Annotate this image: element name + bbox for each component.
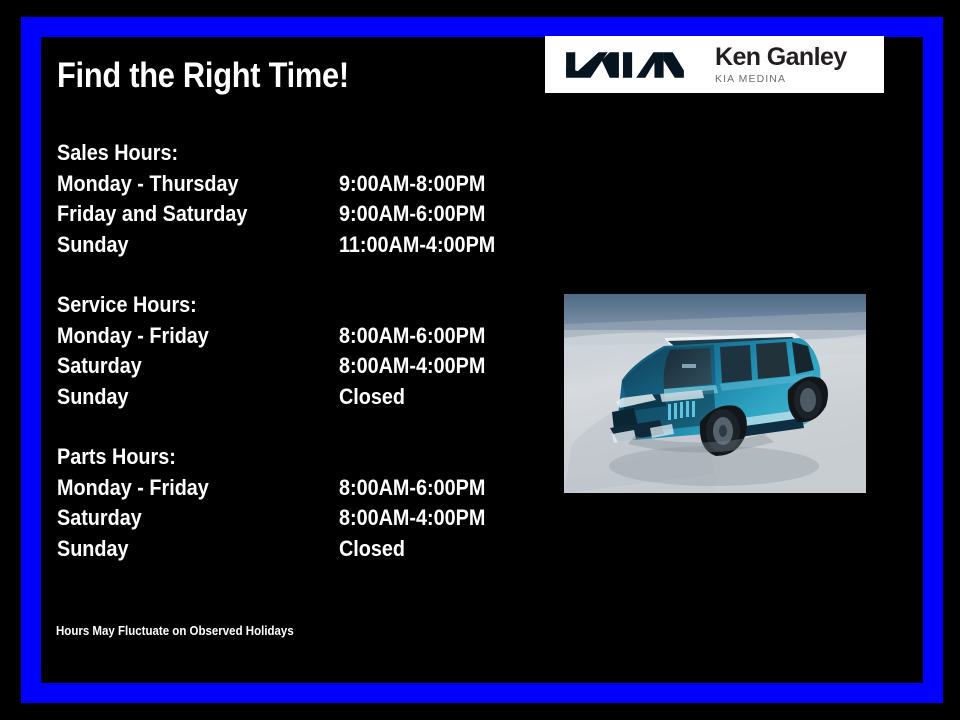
- hours-row: Sunday11:00AM-4:00PM: [57, 230, 537, 261]
- hours-section: Parts Hours:Monday - Friday8:00AM-6:00PM…: [57, 442, 537, 564]
- page-title: Find the Right Time!: [57, 58, 349, 95]
- dealer-logo-card: Ken Ganley KIA MEDINA: [545, 36, 884, 93]
- hours-row-time: Closed: [339, 382, 405, 413]
- hours-row: Monday - Friday8:00AM-6:00PM: [57, 321, 537, 352]
- hours-section-heading: Sales Hours:: [57, 138, 489, 169]
- hours-row: SundayClosed: [57, 534, 537, 565]
- dealer-name: Ken Ganley: [715, 45, 847, 70]
- hours-row-time: 8:00AM-6:00PM: [339, 321, 485, 352]
- dealer-subtitle: KIA MEDINA: [715, 74, 847, 85]
- kia-ev9-suv-photo: [564, 294, 866, 493]
- hours-row-time: 8:00AM-4:00PM: [339, 351, 485, 382]
- hours-section-heading: Parts Hours:: [57, 442, 489, 473]
- hours-row: Saturday8:00AM-4:00PM: [57, 503, 537, 534]
- hours-row-time: 11:00AM-4:00PM: [339, 230, 495, 261]
- hours-row: Monday - Thursday9:00AM-8:00PM: [57, 169, 537, 200]
- hours-row-time: 8:00AM-4:00PM: [339, 503, 485, 534]
- hours-row-day: Saturday: [57, 351, 311, 382]
- slide-canvas: Find the Right Time! Sales Hours:Monday …: [0, 0, 960, 720]
- hours-row-day: Sunday: [57, 382, 311, 413]
- kia-logo-icon: [559, 48, 691, 82]
- hours-row-time: Closed: [339, 534, 405, 565]
- hours-row-day: Friday and Saturday: [57, 199, 311, 230]
- hours-row: Saturday8:00AM-4:00PM: [57, 351, 537, 382]
- hours-row-day: Sunday: [57, 230, 311, 261]
- hours-block: Sales Hours:Monday - Thursday9:00AM-8:00…: [57, 138, 537, 564]
- hours-section: Service Hours:Monday - Friday8:00AM-6:00…: [57, 290, 537, 412]
- hours-row-time: 9:00AM-8:00PM: [339, 169, 485, 200]
- hours-section-heading: Service Hours:: [57, 290, 489, 321]
- hours-row-time: 9:00AM-6:00PM: [339, 199, 485, 230]
- hours-row: Friday and Saturday9:00AM-6:00PM: [57, 199, 537, 230]
- hours-row-day: Monday - Friday: [57, 321, 311, 352]
- hours-row-day: Sunday: [57, 534, 311, 565]
- hours-row: Monday - Friday8:00AM-6:00PM: [57, 473, 537, 504]
- dealer-logo-text: Ken Ganley KIA MEDINA: [715, 45, 847, 85]
- hours-row-time: 8:00AM-6:00PM: [339, 473, 485, 504]
- hours-row: SundayClosed: [57, 382, 537, 413]
- hours-row-day: Saturday: [57, 503, 311, 534]
- holiday-disclaimer: Hours May Fluctuate on Observed Holidays: [56, 624, 294, 638]
- hours-section: Sales Hours:Monday - Thursday9:00AM-8:00…: [57, 138, 537, 260]
- hours-row-day: Monday - Thursday: [57, 169, 311, 200]
- hours-row-day: Monday - Friday: [57, 473, 311, 504]
